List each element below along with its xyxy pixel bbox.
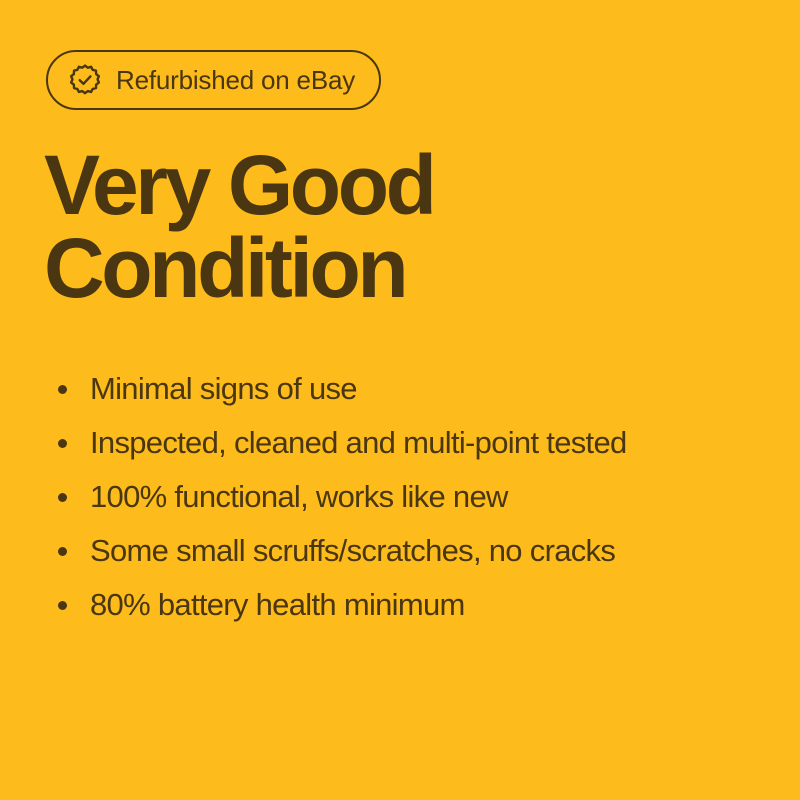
bullet-dot-icon [58,547,67,556]
condition-headline: Very Good Condition [44,144,744,310]
list-item: 80% battery health minimum [46,578,776,632]
condition-headline-line-2: Condition [44,227,744,310]
feature-label: Some small scruffs/scratches, no cracks [90,534,615,568]
bullet-dot-icon [58,385,67,394]
feature-label: Inspected, cleaned and multi-point teste… [90,426,627,460]
feature-label: 100% functional, works like new [90,480,508,514]
condition-headline-line-1: Very Good [44,144,744,227]
feature-label: Minimal signs of use [90,372,357,406]
list-item: Inspected, cleaned and multi-point teste… [46,416,776,470]
list-item: Some small scruffs/scratches, no cracks [46,524,776,578]
list-item: 100% functional, works like new [46,470,776,524]
bullet-dot-icon [58,493,67,502]
condition-feature-list: Minimal signs of use Inspected, cleaned … [46,362,776,632]
refurbished-badge-pill[interactable]: Refurbished on eBay [46,50,381,110]
bullet-dot-icon [58,601,67,610]
list-item: Minimal signs of use [46,362,776,416]
refurbished-badge-label: Refurbished on eBay [116,67,355,93]
refurbished-condition-card: Refurbished on eBay Very Good Condition … [0,0,800,800]
verified-rosette-check-icon [68,63,102,97]
feature-label: 80% battery health minimum [90,588,465,622]
bullet-dot-icon [58,439,67,448]
